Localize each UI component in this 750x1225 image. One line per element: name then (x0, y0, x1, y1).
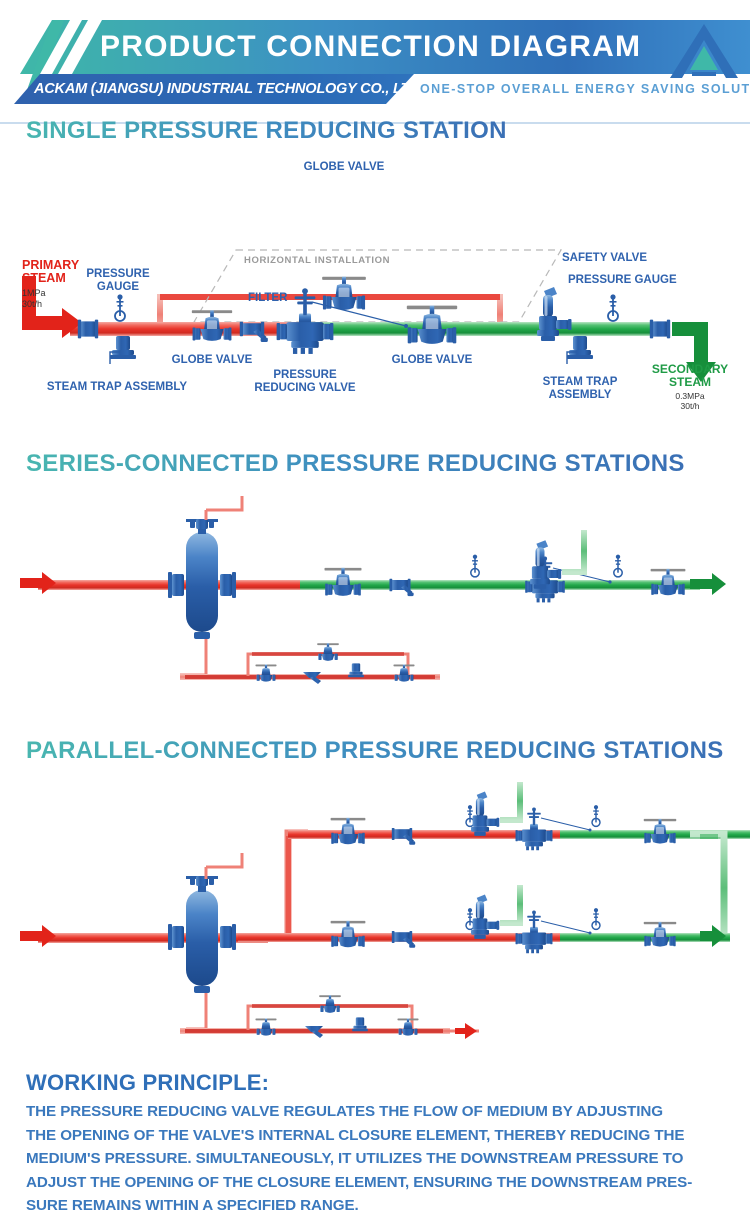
label-primary-flow: 30t/h (22, 299, 42, 309)
primary-steam-pipe (70, 322, 310, 336)
parallel-upper-filter-icon (392, 828, 415, 845)
parallel-upper-safety-valve-icon (471, 792, 499, 836)
label-horizontal-installation: HORIZONTAL INSTALLATION (244, 255, 390, 266)
parallel-upper-gauge-2-icon (592, 805, 600, 826)
label-steam-trap-left: STEAM TRAP ASSEMBLY (47, 381, 187, 393)
label-secondary-steam-line1: SECONDARY (652, 362, 728, 376)
flange-joint-inlet-icon (78, 320, 98, 339)
pressure-gauge-left-icon (115, 294, 125, 321)
label-primary-pressure: 1MPa (22, 288, 46, 298)
parallel-drain-valve-2-icon (398, 1019, 419, 1036)
page-header: PRODUCT CONNECTION DIAGRAM ACKAM (JIANGS… (0, 20, 750, 104)
working-principle-text: THE PRESSURE REDUCING VALVE REGULATES TH… (26, 1100, 726, 1218)
series-safety-valve-icon (530, 540, 561, 589)
label-pressure-gauge-left-line2: GAUGE (97, 281, 140, 293)
label-globe-valve-top: GLOBE VALVE (304, 161, 385, 173)
working-principle-line: SURE REMAINS WITHIN A SPECIFIED RANGE. (26, 1194, 726, 1218)
filter-icon (240, 322, 268, 342)
secondary-steam-pipe (306, 322, 670, 336)
label-pressure-gauge-left-line1: PRESSURE (86, 268, 150, 280)
parallel-lower-safety-valve-icon (471, 895, 499, 939)
label-steam-trap-right-line1: STEAM TRAP (543, 376, 618, 388)
label-secondary-steam-line2: STEAM (669, 375, 711, 389)
label-globe-valve-middle: GLOBE VALVE (392, 354, 473, 366)
steam-trap-right-icon (567, 336, 593, 359)
diagram-single-pressure-reducing-station: GLOBE VALVE HORIZONTAL INSTALLATION PRES… (0, 150, 750, 420)
globe-valve-bypass-icon (322, 277, 366, 310)
working-principle-line: ADJUST THE OPENING OF THE CLOSURE ELEMEN… (26, 1171, 726, 1195)
label-secondary-flow: 30t/h (681, 401, 700, 411)
pressure-gauge-right-icon (608, 294, 618, 321)
label-prv-line1: PRESSURE (273, 369, 337, 381)
steam-trap-left-icon (110, 336, 136, 359)
working-principle-heading: WORKING PRINCIPLE: (26, 1070, 269, 1096)
company-name: ACKAM (JIANGSU) INDUSTRIAL TECHNOLOGY CO… (34, 75, 423, 103)
parallel-drain-valve-1-icon (256, 1019, 277, 1036)
working-principle-line: THE OPENING OF THE VALVE'S INTERNAL CLOS… (26, 1124, 726, 1148)
flange-joint-outlet-icon (650, 320, 670, 339)
diagram-series-overlay (0, 490, 750, 705)
working-principle-line: THE PRESSURE REDUCING VALVE REGULATES TH… (26, 1100, 726, 1124)
label-primary-steam-line1: PRIMARY (22, 258, 80, 272)
label-filter: FILTER (248, 292, 288, 304)
label-primary-steam-line2: STEAM (22, 271, 66, 285)
page-title: PRODUCT CONNECTION DIAGRAM (100, 22, 660, 72)
label-prv-line2: REDUCING VALVE (254, 382, 355, 394)
parallel-drain-trap-icon (352, 1017, 368, 1031)
label-steam-trap-right-line2: ASSEMBLY (549, 389, 612, 401)
label-secondary-pressure: 0.3MPa (675, 391, 705, 401)
company-logo-icon (668, 20, 740, 80)
parallel-vessel-vent-valve-icon (186, 876, 218, 886)
section-title-single: SINGLE PRESSURE REDUCING STATION (26, 117, 507, 145)
label-safety-valve: SAFETY VALVE (562, 252, 647, 264)
section-title-series: SERIES-CONNECTED PRESSURE REDUCING STATI… (26, 450, 685, 478)
parallel-lower-filter-icon (392, 931, 415, 948)
label-pressure-gauge-right: PRESSURE GAUGE (568, 274, 677, 286)
diagram-parallel-connected-stations (0, 778, 750, 1053)
parallel-separator-vessel-icon (168, 878, 236, 993)
working-principle-line: MEDIUM'S PRESSURE. SIMULTANEOUSLY, IT UT… (26, 1147, 726, 1171)
parallel-inlet-arrow (20, 925, 56, 947)
parallel-lower-gauge-2-icon (592, 908, 600, 929)
label-globe-valve-left: GLOBE VALVE (172, 354, 253, 366)
section-title-parallel: PARALLEL-CONNECTED PRESSURE REDUCING STA… (26, 737, 724, 765)
